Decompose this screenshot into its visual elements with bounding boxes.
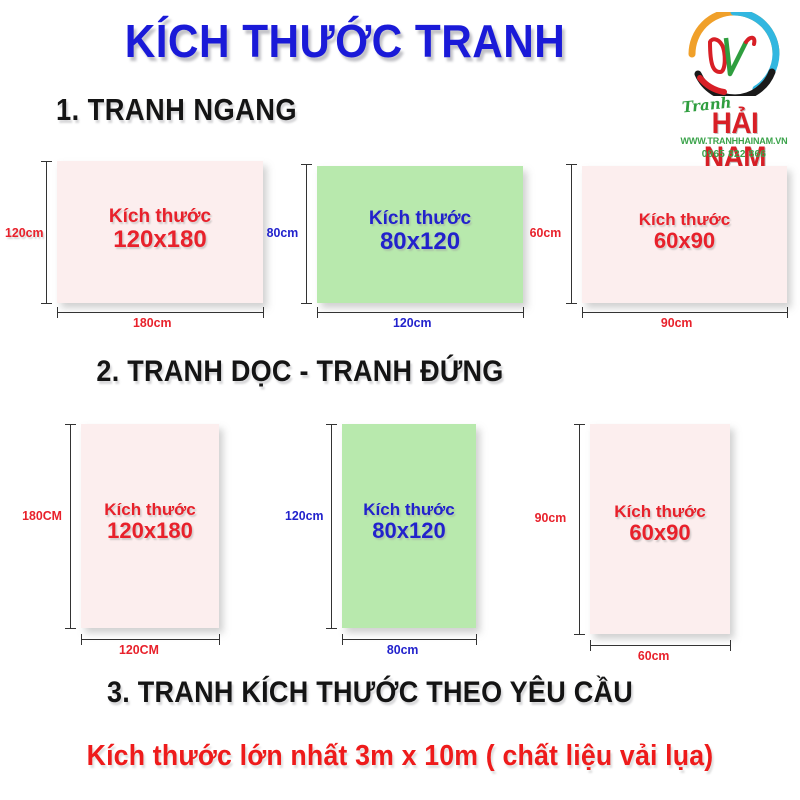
dimension-height-label: 180CM — [22, 508, 62, 523]
dimension-line-vertical — [571, 164, 572, 304]
dimension-line-horizontal — [582, 312, 788, 313]
card-caption: Kích thước 60x90 — [590, 502, 730, 546]
horizontal-card-120x180: Kích thước 120x180 — [57, 161, 263, 303]
vertical-card-60x90: Kích thước 60x90 — [590, 424, 730, 634]
dimension-tick — [582, 307, 583, 318]
dimension-tick — [317, 307, 318, 318]
vertical-card-80x120: Kích thước 80x120 — [342, 424, 476, 628]
dimension-tick — [65, 628, 76, 629]
dimension-tick — [65, 424, 76, 425]
horizontal-card-80x120: Kích thước 80x120 — [317, 166, 523, 303]
dimension-tick — [590, 640, 591, 651]
section-3-heading: 3. TRANH KÍCH THƯỚC THEO YÊU CẦU — [37, 676, 703, 710]
dimension-height-label: 80cm — [267, 225, 299, 240]
dimension-tick — [57, 307, 58, 318]
dimension-line-horizontal — [590, 645, 731, 646]
dimension-width-label: 120CM — [119, 642, 159, 657]
dimension-width-label: 80cm — [387, 642, 419, 657]
dimension-tick — [574, 424, 585, 425]
dimension-tick — [41, 161, 52, 162]
dimension-width-label: 60cm — [638, 648, 670, 663]
dimension-line-vertical — [331, 424, 332, 629]
card-caption: Kích thước 80x120 — [317, 208, 523, 256]
section-1-heading: 1. TRANH NGANG — [56, 92, 297, 128]
card-caption: Kích thước 80x120 — [342, 500, 476, 544]
dimension-tick — [263, 307, 264, 318]
dimension-width-label: 120cm — [393, 315, 431, 330]
dimension-width-label: 90cm — [661, 315, 693, 330]
dimension-tick — [574, 634, 585, 635]
dimension-line-vertical — [46, 161, 47, 304]
dimension-height-label: 120cm — [5, 225, 43, 240]
section-2-heading: 2. TRANH DỌC - TRANH ĐỨNG — [30, 355, 570, 389]
dimension-tick — [566, 303, 577, 304]
dimension-line-horizontal — [342, 639, 477, 640]
logo-website: WWW.TRANHHAINAM.VN — [675, 136, 793, 147]
footer-note: Kích thước lớn nhất 3m x 10m ( chất liệu… — [32, 740, 768, 773]
dimension-tick — [326, 628, 337, 629]
dimension-tick — [566, 164, 577, 165]
dimension-tick — [787, 307, 788, 318]
horizontal-card-60x90: Kích thước 60x90 — [582, 166, 787, 303]
dimension-tick — [326, 424, 337, 425]
dimension-line-vertical — [306, 164, 307, 304]
logo-phone: 0965 822 866 — [675, 148, 793, 160]
dimension-line-horizontal — [81, 639, 220, 640]
card-caption: Kích thước 60x90 — [582, 210, 787, 254]
dimension-line-horizontal — [57, 312, 264, 313]
dimension-height-label: 120cm — [285, 508, 323, 523]
dimension-line-vertical — [70, 424, 71, 629]
dimension-line-vertical — [579, 424, 580, 635]
dimension-tick — [342, 634, 343, 645]
card-caption: Kích thước 120x180 — [57, 206, 263, 254]
logo-swoosh-icon — [684, 12, 784, 96]
dimension-tick — [41, 303, 52, 304]
page-title: KÍCH THƯỚC TRANH — [28, 14, 663, 68]
dimension-tick — [301, 164, 312, 165]
vertical-card-120x180: Kích thước 120x180 — [81, 424, 219, 628]
dimension-width-label: 180cm — [133, 315, 171, 330]
dimension-tick — [301, 303, 312, 304]
dimension-height-label: 60cm — [530, 225, 562, 240]
card-caption: Kích thước 120x180 — [81, 500, 219, 544]
dimension-line-horizontal — [317, 312, 524, 313]
dimension-tick — [476, 634, 477, 645]
dimension-tick — [219, 634, 220, 645]
dimension-tick — [730, 640, 731, 651]
brand-logo: Tranh HẢI NAM WWW.TRANHHAINAM.VN 0965 82… — [672, 12, 796, 162]
dimension-tick — [81, 634, 82, 645]
dimension-tick — [523, 307, 524, 318]
dimension-height-label: 90cm — [535, 510, 567, 525]
